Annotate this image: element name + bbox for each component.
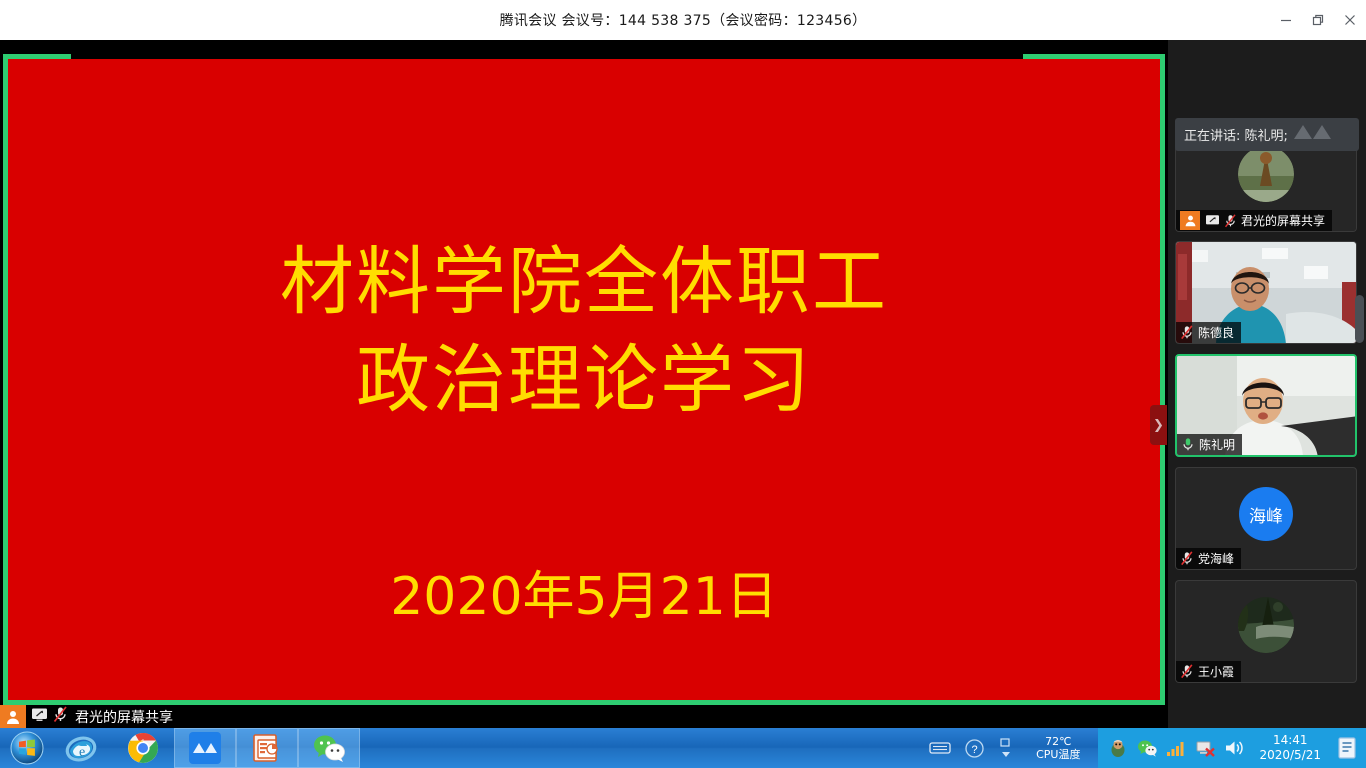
microphone-muted-icon — [1180, 664, 1194, 679]
slide-title-line-2: 政治理论学习 — [8, 332, 1160, 430]
restore-icon[interactable] — [1302, 0, 1334, 40]
svg-text:?: ? — [972, 744, 978, 756]
participant-tiles: 君光的屏幕共享 — [1168, 122, 1366, 728]
keyboard-icon[interactable] — [929, 740, 951, 756]
taskbar-apps: e — [50, 728, 360, 768]
clock-time: 14:41 — [1259, 733, 1321, 748]
cpu-temperature-indicator[interactable]: 72℃ CPU温度 — [1028, 735, 1088, 761]
participant-nametag: 陈德良 — [1176, 322, 1241, 343]
avatar — [1238, 597, 1294, 653]
minimize-icon[interactable] — [1270, 0, 1302, 40]
avatar — [1238, 146, 1294, 202]
participant-nametag: 王小霞 — [1176, 661, 1241, 682]
presenter-badges — [31, 706, 68, 728]
slide-title: 材料学院全体职工 政治理论学习 — [8, 234, 1160, 429]
qq-icon[interactable] — [1108, 738, 1128, 758]
participant-nametag: 党海峰 — [1176, 548, 1241, 569]
close-icon[interactable] — [1334, 0, 1366, 40]
taskbar-clock[interactable]: 14:41 2020/5/21 — [1253, 733, 1327, 763]
participant-name: 党海峰 — [1198, 550, 1234, 567]
microphone-muted-icon — [1224, 214, 1237, 228]
slide-title-line-1: 材料学院全体职工 — [8, 234, 1160, 332]
presenter-label: 君光的屏幕共享 — [75, 707, 173, 727]
person-badge-icon — [1180, 211, 1200, 230]
microphone-muted-icon — [53, 706, 68, 728]
system-tray: ? 72℃ CPU温度 — [929, 728, 1366, 768]
shared-screen-region: 材料学院全体职工 政治理论学习 2020年5月21日 ❯ — [0, 40, 1168, 705]
wechat-tray-icon[interactable] — [1137, 739, 1157, 757]
window-title: 腾讯会议 会议号：144 538 375（会议密码：123456） — [500, 10, 867, 30]
participant-name: 王小霞 — [1198, 663, 1234, 680]
tencent-meeting-logo-icon — [1292, 122, 1334, 147]
avatar: 海峰 — [1239, 487, 1293, 541]
window-controls — [1270, 0, 1366, 40]
svg-text:e: e — [79, 745, 85, 760]
cpu-temp-label: CPU温度 — [1036, 748, 1080, 761]
participant-name: 君光的屏幕共享 — [1241, 212, 1325, 229]
network-signal-icon[interactable] — [1166, 740, 1186, 757]
presentation-slide: 材料学院全体职工 政治理论学习 2020年5月21日 — [8, 59, 1160, 705]
participant-name: 陈礼明 — [1199, 436, 1235, 453]
meeting-window-body: 材料学院全体职工 政治理论学习 2020年5月21日 ❯ — [0, 40, 1366, 728]
taskbar-app-powerpoint[interactable] — [236, 728, 298, 768]
tray-right-group: 14:41 2020/5/21 — [1098, 728, 1366, 768]
volume-icon[interactable] — [1224, 739, 1244, 757]
cpu-temp-value: 72℃ — [1036, 735, 1080, 748]
windows-taskbar: e — [0, 728, 1366, 768]
participant-tile-screen-share[interactable]: 君光的屏幕共享 — [1175, 144, 1357, 232]
window-title-bar: 腾讯会议 会议号：144 538 375（会议密码：123456） — [0, 0, 1366, 40]
show-hidden-icons-icon[interactable] — [998, 737, 1014, 759]
active-speaker-banner: 正在讲话: 陈礼明; — [1175, 118, 1359, 151]
tray-left-group: ? 72℃ CPU温度 — [929, 735, 1098, 761]
microphone-active-icon — [1181, 437, 1195, 452]
presenter-status-bar: 君光的屏幕共享 — [0, 705, 1168, 728]
participant-tile-avatar-1[interactable]: 海峰 党海峰 — [1175, 467, 1357, 570]
participant-name: 陈德良 — [1198, 324, 1234, 341]
participant-tile-avatar-2[interactable]: 王小霞 — [1175, 580, 1357, 683]
participant-nametag: 君光的屏幕共享 — [1176, 210, 1332, 231]
chevron-right-icon[interactable]: ❯ — [1150, 405, 1167, 445]
windows-start-orb[interactable] — [4, 729, 50, 767]
network-error-icon[interactable] — [1195, 739, 1215, 757]
screen-share-badge-icon — [31, 707, 48, 727]
taskbar-app-wechat[interactable] — [298, 728, 360, 768]
participants-scrollbar[interactable] — [1355, 295, 1364, 343]
taskbar-app-internet-explorer[interactable]: e — [50, 728, 112, 768]
participant-nametag: 陈礼明 — [1177, 434, 1242, 455]
participant-tile-video-1[interactable]: 陈德良 — [1175, 241, 1357, 344]
clock-date: 2020/5/21 — [1259, 748, 1321, 763]
participants-panel: 正在讲话: 陈礼明; — [1168, 40, 1366, 728]
taskbar-app-tencent-meeting[interactable] — [174, 728, 236, 768]
person-badge-icon — [0, 705, 26, 728]
slide-date: 2020年5月21日 — [8, 554, 1160, 629]
participant-tile-video-2[interactable]: 陈礼明 — [1175, 354, 1357, 457]
action-center-icon[interactable] — [1336, 736, 1358, 760]
help-icon[interactable]: ? — [965, 739, 984, 758]
active-speaker-label: 正在讲话: 陈礼明; — [1184, 125, 1288, 144]
microphone-muted-icon — [1180, 551, 1194, 566]
screen-share-badge-icon — [1205, 214, 1220, 227]
microphone-muted-icon — [1180, 325, 1194, 340]
taskbar-app-google-chrome[interactable] — [112, 728, 174, 768]
